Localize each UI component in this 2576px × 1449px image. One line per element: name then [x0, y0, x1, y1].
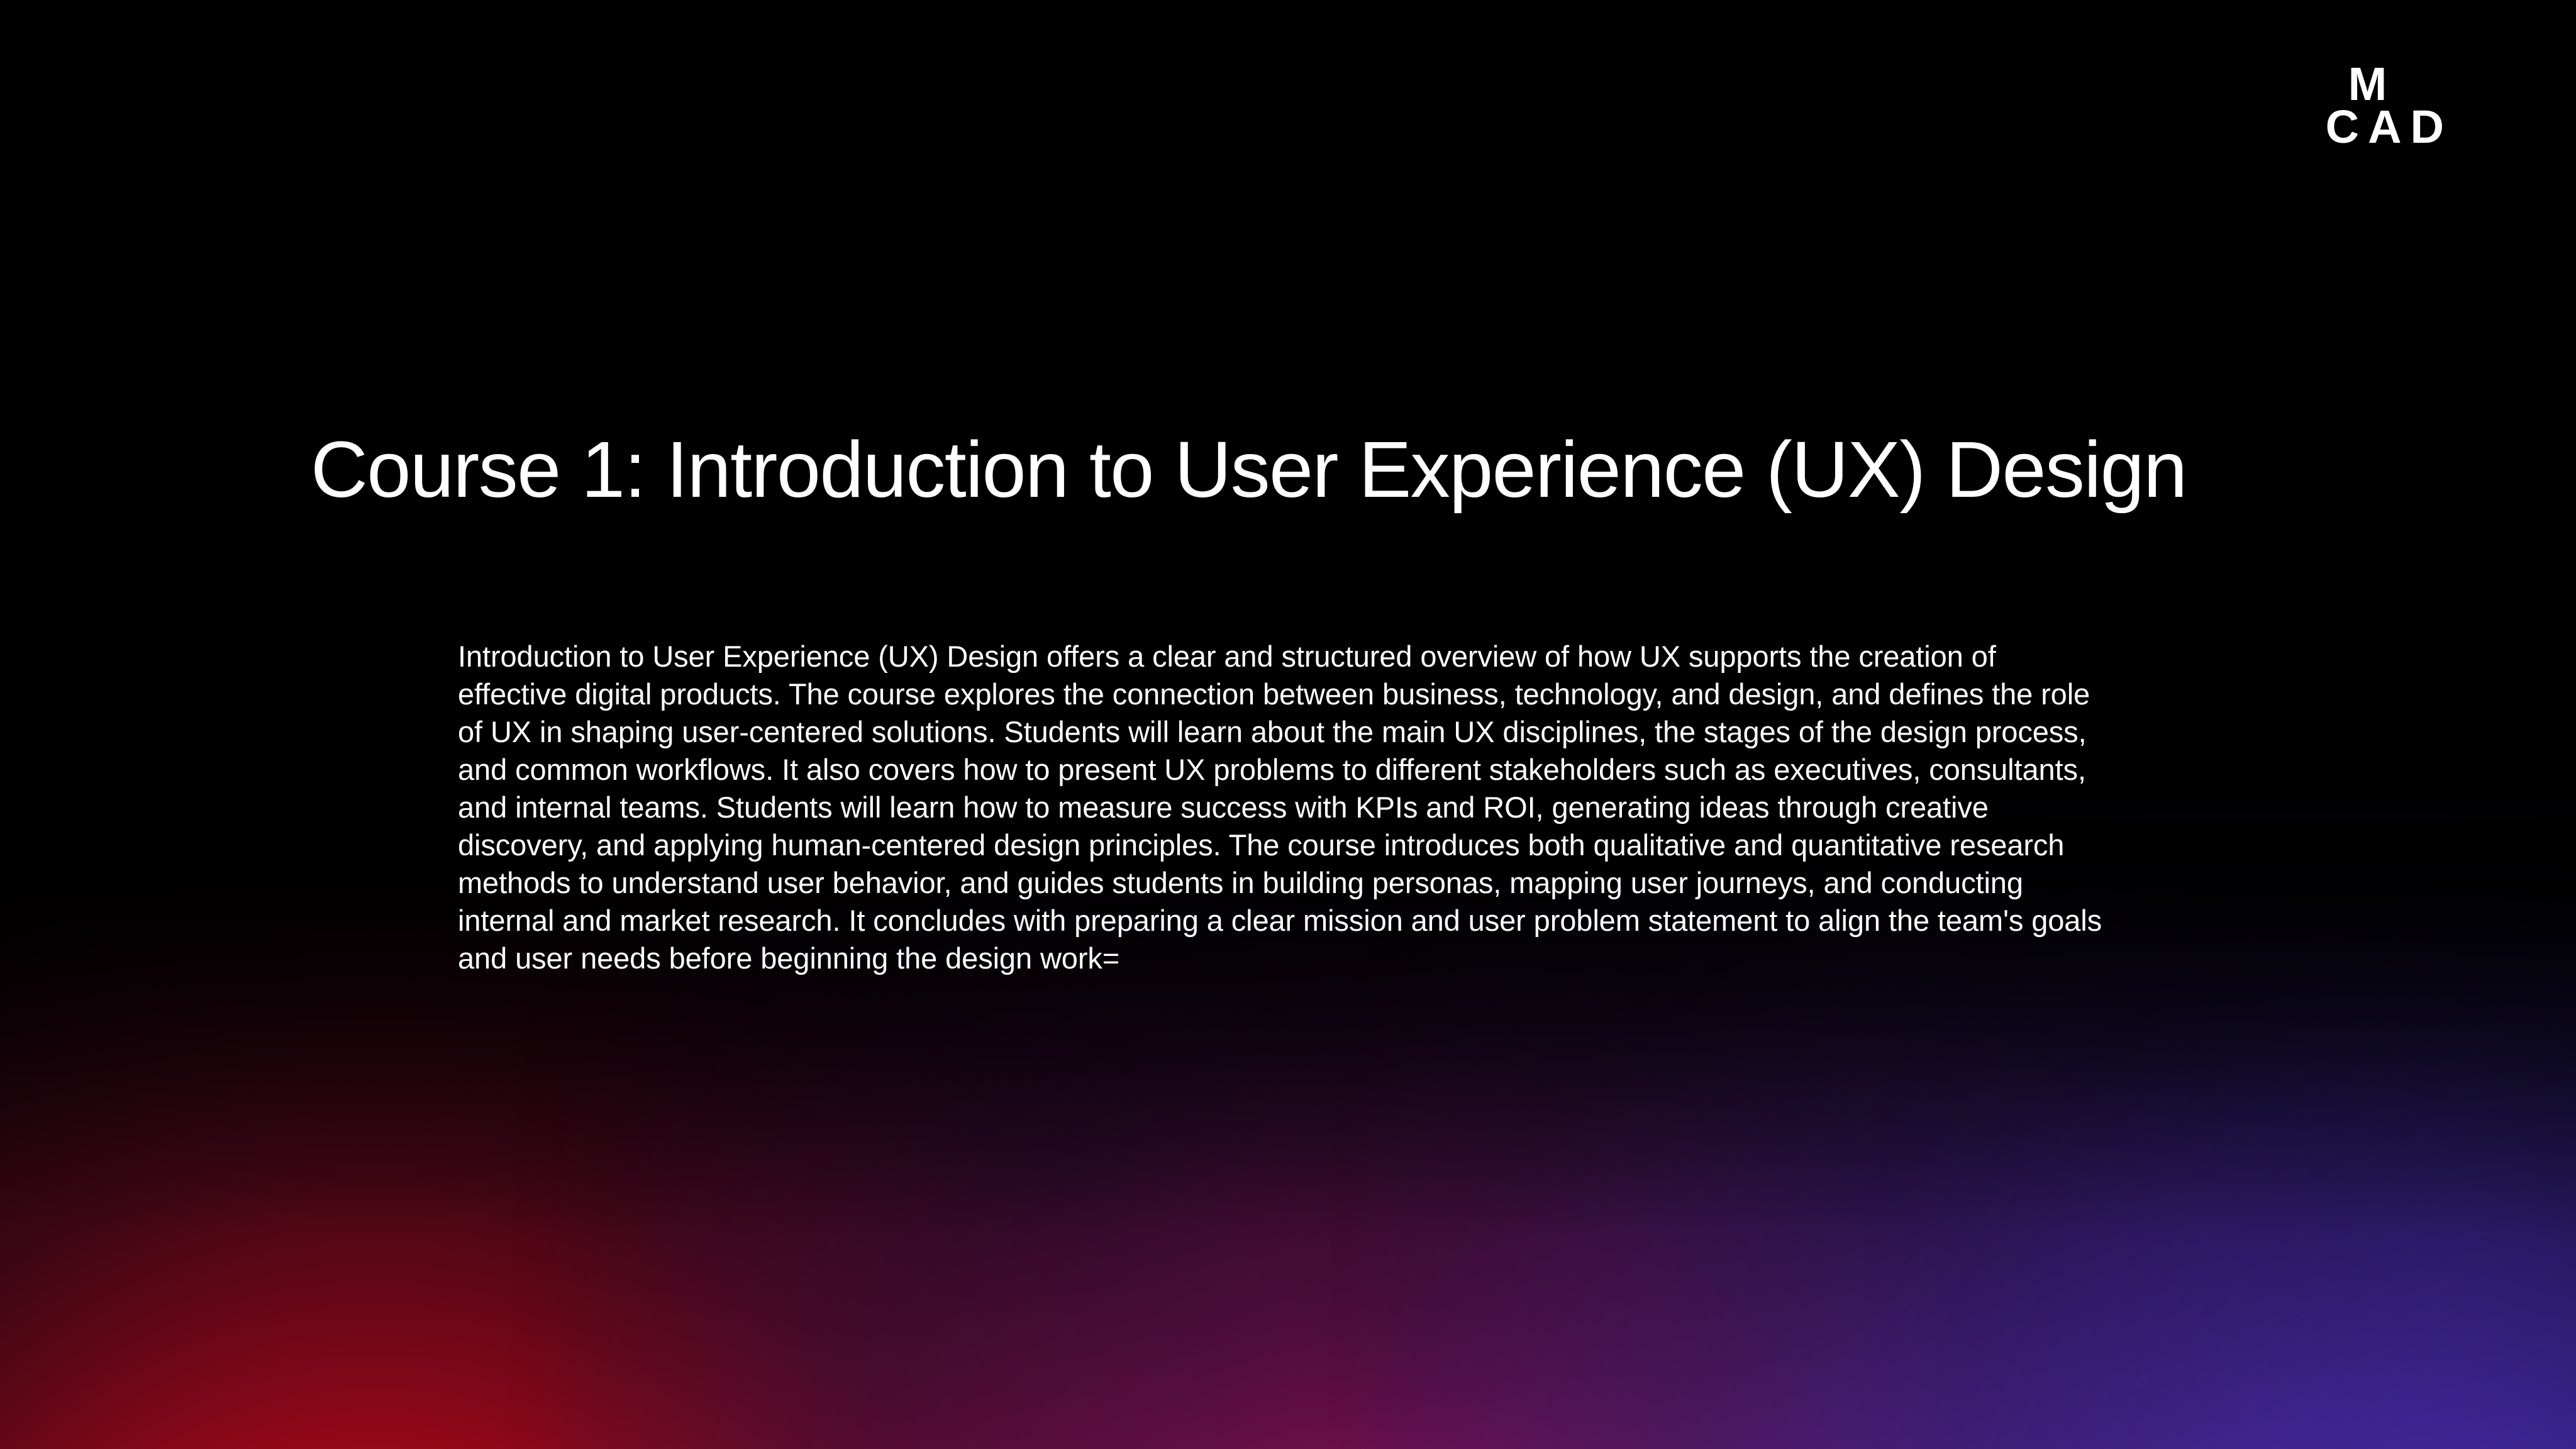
slide-canvas: M CAD Course 1: Introduction to User Exp… — [0, 0, 2576, 1449]
page-title: Course 1: Introduction to User Experienc… — [311, 428, 2386, 512]
course-description-paragraph: Introduction to User Experience (UX) Des… — [458, 638, 2109, 977]
mcad-logo-line-bottom: CAD — [2326, 106, 2453, 148]
gradient-glow-blue — [1918, 952, 2576, 1449]
mcad-logo-line-top: M — [2326, 63, 2453, 106]
mcad-logo: M CAD — [2326, 63, 2453, 148]
